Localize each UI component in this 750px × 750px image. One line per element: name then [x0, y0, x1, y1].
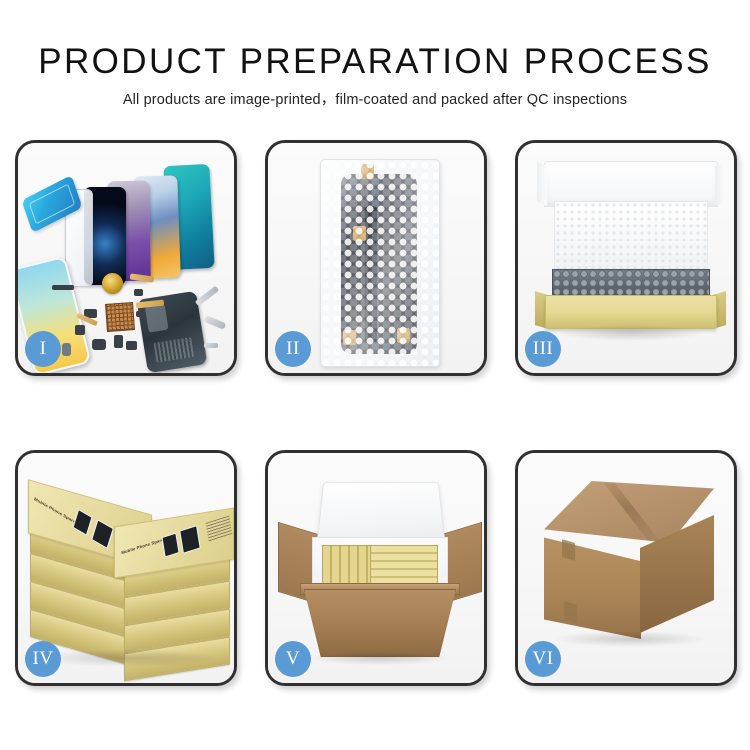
process-panel-1[interactable]: I [15, 140, 237, 376]
page-title: PRODUCT PREPARATION PROCESS [0, 0, 750, 82]
kraft-box-front [545, 295, 717, 329]
part-camera-module [92, 339, 106, 350]
kraft-boxes-inside-right [370, 545, 438, 587]
bubble-wrap-bag [320, 159, 440, 367]
stack-shadow-floor [36, 649, 220, 667]
plastic-sheen [321, 160, 439, 366]
sealed-carton-shadow-floor [552, 631, 708, 647]
carton-tape-tab-upper [562, 539, 575, 561]
box-art-phone-a2 [91, 519, 114, 549]
panel-1-numeral-badge: I [25, 331, 61, 367]
panel-5-numeral-badge: V [275, 641, 311, 677]
box-spec-lines-b [206, 515, 233, 542]
pry-tool [204, 343, 218, 348]
process-panel-6[interactable]: VI [515, 450, 737, 686]
panel-3-numeral-badge: III [525, 331, 561, 367]
process-panel-5[interactable]: V [265, 450, 487, 686]
part-vibrator [126, 341, 137, 350]
part-speaker [52, 285, 74, 290]
panel-4-numeral-badge: IV [25, 641, 61, 677]
copper-shield-grid [105, 302, 135, 332]
carton-front [304, 589, 456, 657]
page-subtitle: All products are image-printed，film-coat… [0, 82, 750, 109]
foam-sheet [554, 201, 708, 273]
process-panel-grid: I II III [15, 140, 737, 686]
process-panel-3[interactable]: III [515, 140, 737, 376]
carton-shadow-floor [310, 651, 448, 665]
part-screw-plate [136, 311, 144, 317]
part-button [62, 343, 71, 356]
part-bracket-b [75, 325, 85, 335]
box-art-phone-a1 [72, 509, 92, 536]
box-art-phone-b1 [161, 533, 179, 558]
part-connector-a [134, 289, 143, 296]
wireless-charging-coil [102, 273, 123, 294]
screwdriver-tool [203, 315, 226, 330]
panel-2-numeral-badge: II [275, 331, 311, 367]
box-art-phone-b2 [179, 525, 201, 554]
carton-tape-tab-lower [564, 601, 577, 623]
process-panel-4[interactable]: Mobile Phone Spare Parts Mobile Phone Sp… [15, 450, 237, 686]
kraft-box-stack: Mobile Phone Spare Parts Mobile Phone Sp… [26, 473, 232, 673]
process-panel-2[interactable]: II [265, 140, 487, 376]
page-header: PRODUCT PREPARATION PROCESS All products… [0, 0, 750, 135]
panel-6-numeral-badge: VI [525, 641, 561, 677]
part-sim-tray [114, 335, 123, 348]
box-shadow-floor [558, 325, 704, 341]
tweezers-tool [195, 286, 219, 307]
carton-left-face [544, 531, 641, 639]
